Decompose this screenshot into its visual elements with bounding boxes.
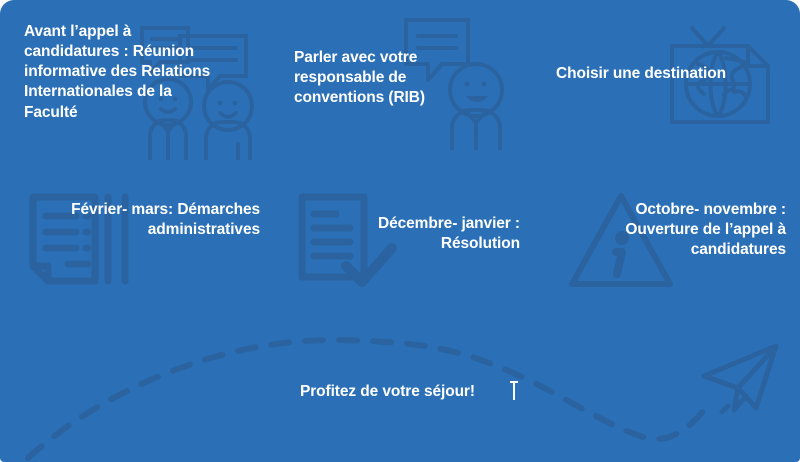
- step-label-fevrier: Février- mars: Démarches administratives: [70, 200, 260, 240]
- step-label-reunion: Avant l’appel à candidatures : Réunion i…: [24, 22, 214, 123]
- step-label-decembre: Décembre- janvier : Résolution: [330, 214, 520, 254]
- footer-label: Profitez de votre séjour!: [300, 382, 530, 402]
- step-label-parler: Parler avec votre responsable de convent…: [294, 48, 474, 108]
- text-cursor: [513, 381, 515, 400]
- paper-plane-icon: [698, 342, 784, 418]
- infographic-canvas: Avant l’appel à candidatures : Réunion i…: [0, 0, 800, 462]
- step-label-choisir: Choisir une destination: [556, 64, 786, 84]
- step-label-octobre: Octobre- novembre : Ouverture de l’appel…: [590, 200, 786, 260]
